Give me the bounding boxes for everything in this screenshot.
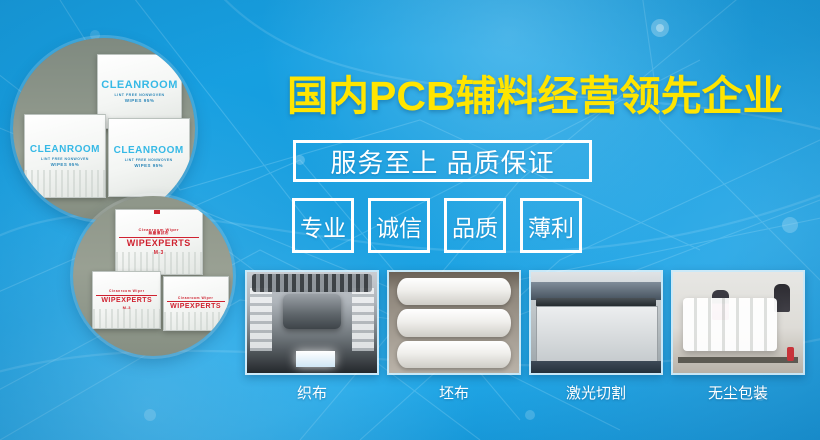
wipexperts-brand-text: WIPEXPERTS	[164, 303, 228, 310]
packing-room-scene	[673, 272, 803, 373]
cleanroom-subline-2: WIPES 95%	[98, 99, 182, 104]
wipexperts-pack-left: Cleanroom Wiper WIPEXPERTS M-3	[92, 271, 161, 329]
wipexperts-photo: Cleanroom Wiper 無塵擦拭布 WIPEXPERTS M-3 Cle…	[73, 196, 233, 356]
product-circle-cleanroom: CLEANROOM LINT FREE NONWOVEN WIPES 95% C…	[13, 38, 195, 220]
cleanroom-subline-2: WIPES 95%	[25, 163, 105, 167]
feature-tag-pinzhi: 品质	[444, 198, 506, 253]
wipexperts-subline-1: Cleanroom Wiper	[93, 290, 160, 293]
packed-wipes-stack	[683, 298, 777, 351]
cleanroom-brand-text: CLEANROOM	[25, 145, 105, 155]
wipexperts-pack-top: Cleanroom Wiper 無塵擦拭布 WIPEXPERTS M-3	[115, 209, 203, 275]
wipexperts-subline-2: 無塵擦拭布	[116, 232, 202, 236]
wipexperts-pack-right: Cleanroom Wiper WIPEXPERTS	[163, 276, 229, 331]
process-photo-lasercut	[529, 270, 663, 375]
machine-fabric-glow	[296, 351, 335, 367]
wipexperts-brand-text: WIPEXPERTS	[116, 239, 202, 248]
laser-machine-base	[531, 361, 661, 373]
process-photo-greycloth	[387, 270, 521, 375]
process-photo-packing	[671, 270, 805, 375]
process-item-greycloth: 坯布	[387, 270, 521, 403]
process-caption-weaving: 织布	[245, 382, 379, 403]
work-table	[678, 357, 798, 363]
yarn-cones-right	[352, 288, 374, 351]
cleanroom-pack-right: CLEANROOM LINT FREE NONWOVEN WIPES 95%	[108, 118, 190, 196]
cleanroom-pack-left: CLEANROOM LINT FREE NONWOVEN WIPES 95%	[24, 114, 106, 198]
feature-tag-group: 专业 诚信 品质 薄利	[292, 198, 582, 253]
feature-tag-zhuanye: 专业	[292, 198, 354, 253]
pack-ridges	[25, 170, 105, 198]
cleanroom-photo: CLEANROOM LINT FREE NONWOVEN WIPES 95% C…	[13, 38, 195, 220]
process-photo-strip: 织布 坯布 激光切割	[245, 270, 805, 403]
cleanroom-subline-2: WIPES 95%	[109, 164, 189, 168]
wipexperts-subline-1: Cleanroom Wiper	[164, 297, 228, 300]
pack-red-tab	[154, 209, 160, 214]
process-caption-greycloth: 坯布	[387, 382, 521, 403]
page-title: 国内PCB辅料经营领先企业	[287, 76, 787, 117]
feature-tag-chengxin: 诚信	[368, 198, 430, 253]
machine-top-ring	[252, 274, 372, 292]
fabric-rolls-scene	[389, 272, 519, 373]
pack-divider-rule	[96, 295, 157, 296]
process-item-lasercut: 激光切割	[529, 270, 663, 403]
wipexperts-brand-text: WIPEXPERTS	[93, 297, 160, 304]
promo-banner: CLEANROOM LINT FREE NONWOVEN WIPES 95% C…	[0, 0, 820, 440]
fabric-roll	[397, 309, 511, 336]
process-item-packing: 无尘包装	[671, 270, 805, 403]
cleanroom-brand-text: CLEANROOM	[98, 80, 182, 91]
process-caption-lasercut: 激光切割	[529, 382, 663, 403]
pack-divider-rule	[167, 301, 225, 302]
cleanroom-brand-text: CLEANROOM	[109, 146, 189, 156]
process-photo-weaving	[245, 270, 379, 375]
pack-ridges	[93, 309, 160, 328]
product-circle-wipexperts: Cleanroom Wiper 無塵擦拭布 WIPEXPERTS M-3 Cle…	[73, 196, 233, 356]
yarn-cones-left	[250, 288, 272, 351]
subtitle-text: 服务至上 品质保证	[330, 143, 554, 180]
knitting-machine-scene	[247, 272, 377, 373]
process-caption-packing: 无尘包装	[671, 382, 805, 403]
feature-tag-baoli: 薄利	[520, 198, 582, 253]
laser-cutting-bed	[536, 306, 658, 363]
subtitle-frame: 服务至上 品质保证	[293, 140, 592, 182]
laser-cutter-scene	[531, 272, 661, 373]
machine-drum	[283, 294, 340, 328]
process-item-weaving: 织布	[245, 270, 379, 403]
fabric-roll	[397, 278, 511, 305]
fabric-roll	[397, 341, 511, 368]
red-bin	[787, 347, 794, 361]
pack-ridges	[164, 312, 228, 330]
